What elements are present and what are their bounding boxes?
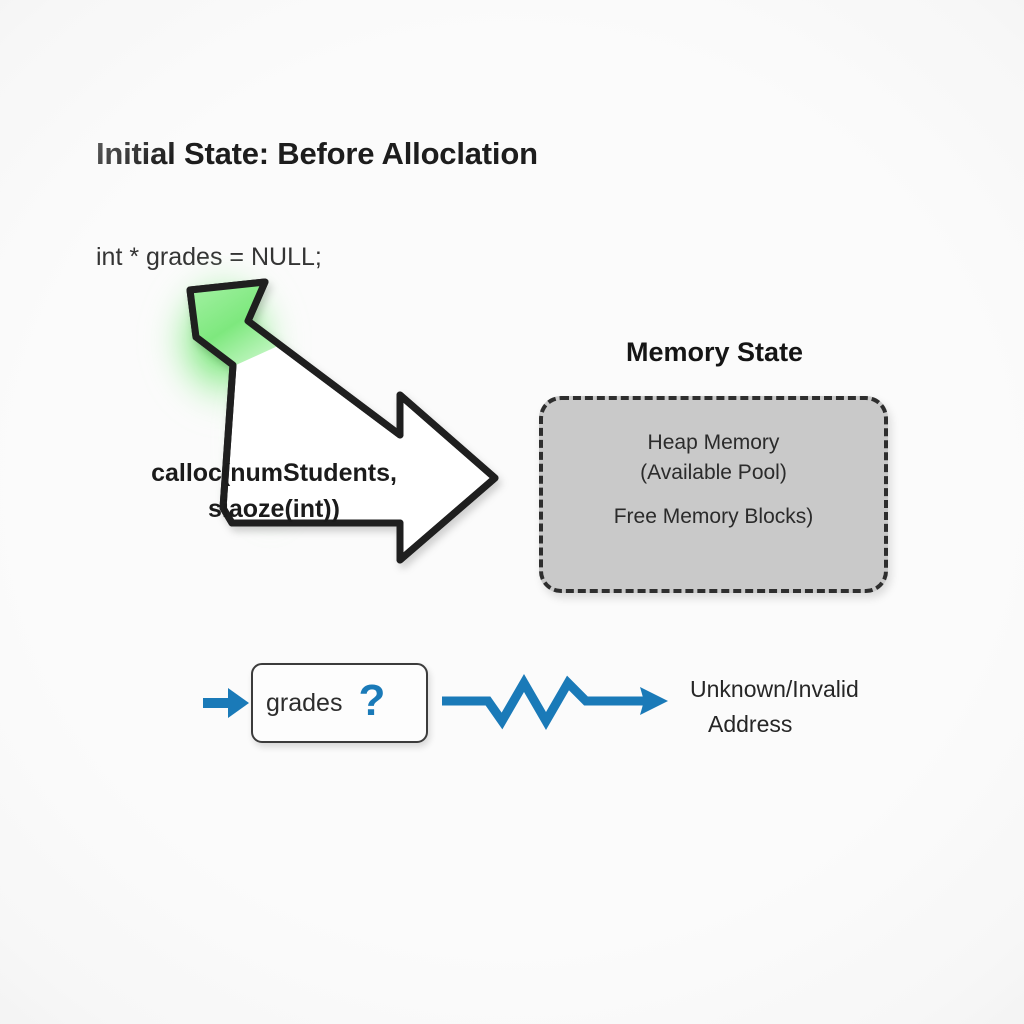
heap-memory-text: Heap Memory (Available Pool) Free Memory…	[543, 428, 884, 532]
unknown-address-line1: Unknown/Invalid	[690, 676, 859, 702]
page-title: Initial State: Before Alloclation	[96, 136, 538, 172]
heap-memory-box: Heap Memory (Available Pool) Free Memory…	[539, 396, 888, 593]
invalid-pointer-zigzag-arrow	[440, 665, 672, 737]
grades-variable-box: grades ?	[251, 663, 428, 743]
heap-text-spacer	[543, 488, 884, 502]
diagram-canvas: Initial State: Before Alloclation int * …	[0, 0, 1024, 1024]
grades-unknown-value-glyph: ?	[358, 679, 385, 723]
unknown-address-label: Unknown/Invalid Address	[690, 672, 900, 742]
heap-line-2: (Available Pool)	[640, 461, 787, 484]
memory-state-heading-line1: Memory State	[626, 337, 803, 367]
pointer-inbound-arrow-icon	[203, 686, 251, 720]
calloc-label-line1: calloc(numStudents,	[151, 459, 397, 487]
unknown-address-line2: Address	[708, 707, 900, 742]
grades-variable-name: grades	[266, 689, 342, 718]
heap-line-1: Heap Memory	[648, 431, 780, 454]
allocation-arrow	[120, 255, 540, 575]
calloc-call-label: calloc(numStudents, siaoze(int))	[104, 455, 444, 527]
heap-line-3: Free Memory Blocks)	[614, 505, 814, 528]
calloc-label-line2: siaoze(int))	[208, 495, 340, 523]
